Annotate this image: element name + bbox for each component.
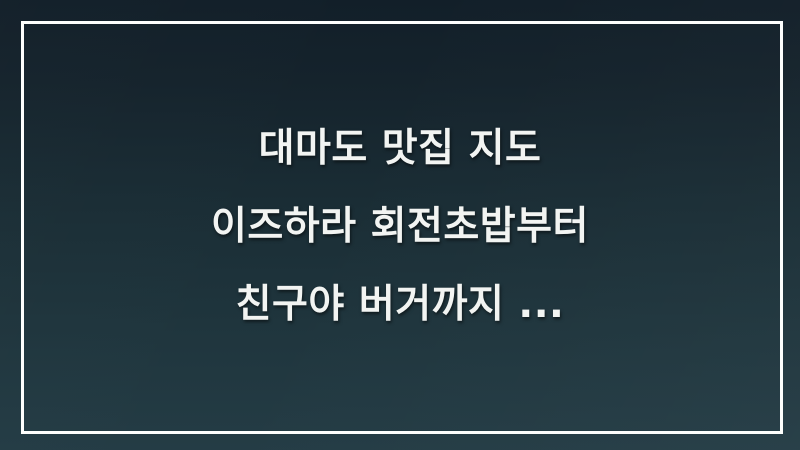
title-line-1: 대마도 맛집 지도	[259, 110, 542, 188]
title-line-3: 친구야 버거까지 ...	[236, 266, 565, 344]
title-line-2: 이즈하라 회전초밥부터	[211, 188, 589, 266]
title-text-block: 대마도 맛집 지도 이즈하라 회전초밥부터 친구야 버거까지 ...	[0, 0, 800, 450]
title-card-screenshot: 대마도 맛집 지도 이즈하라 회전초밥부터 친구야 버거까지 ...	[0, 0, 800, 450]
